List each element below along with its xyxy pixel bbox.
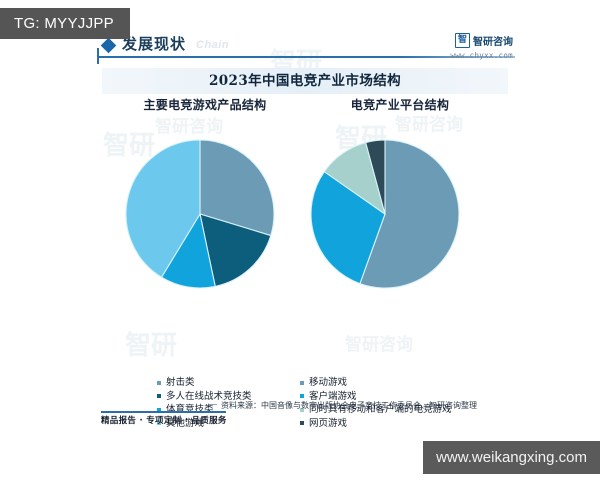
slide-footer: 精品报告 · 专项定制 · 品质服务 资料来源：中国音像与数字出版协会电子竞技工… <box>95 410 515 435</box>
right-pie-chart <box>295 124 475 309</box>
brand-logo: 智 智研咨询 www.chyxx.com <box>450 33 513 60</box>
charts-area: 主要电竞游戏产品结构 电竞产业平台结构 射击类多人在线战术竞技类体育竞技类其他游… <box>95 96 515 396</box>
legend-label: 射击类 <box>166 376 195 390</box>
chart-title-band: 2023年中国电竞产业市场结构 <box>102 68 508 94</box>
slide-card: 智研 智研咨询 智研 智研咨询 智研 智研咨询 智研 发展现状 Chain 智 … <box>95 30 515 435</box>
legend-swatch-icon <box>300 381 304 385</box>
legend-label: 移动游戏 <box>309 376 347 390</box>
left-chart-subtitle: 主要电竞游戏产品结构 <box>105 96 305 113</box>
chart-source-note: 资料来源：中国音像与数字出版协会电子竞技工作委员会、智研咨询整理 <box>221 400 477 411</box>
legend-swatch-icon <box>300 394 304 398</box>
footer-rule <box>101 411 226 413</box>
diamond-icon <box>101 38 117 54</box>
brand-logo-icon: 智 <box>455 33 470 48</box>
left-pie-chart <box>110 124 290 309</box>
right-chart-subtitle: 电竞产业平台结构 <box>300 96 500 113</box>
slide-header: 发展现状 Chain 智 智研咨询 www.chyxx.com <box>95 30 515 64</box>
brand-logo-url: www.chyxx.com <box>450 51 513 60</box>
source-dash <box>209 404 217 405</box>
right-pie-svg <box>295 124 475 304</box>
section-subtitle: Chain <box>196 39 229 51</box>
telegram-tag: TG: MYYJJPP <box>0 8 130 39</box>
footer-brand-line: 精品报告 · 专项定制 · 品质服务 <box>101 414 227 426</box>
watermark-url-bar: www.weikangxing.com <box>423 441 600 474</box>
legend-swatch-icon <box>157 394 161 398</box>
legend-item[interactable]: 移动游戏 <box>300 376 452 390</box>
page-title: 2023年中国电竞产业市场结构 <box>102 68 508 94</box>
left-pie-svg <box>110 124 290 304</box>
legend-swatch-icon <box>157 381 161 385</box>
legend-item[interactable]: 射击类 <box>157 376 252 390</box>
brand-logo-name: 智研咨询 <box>473 33 513 48</box>
section-title: 发展现状 <box>122 33 186 54</box>
